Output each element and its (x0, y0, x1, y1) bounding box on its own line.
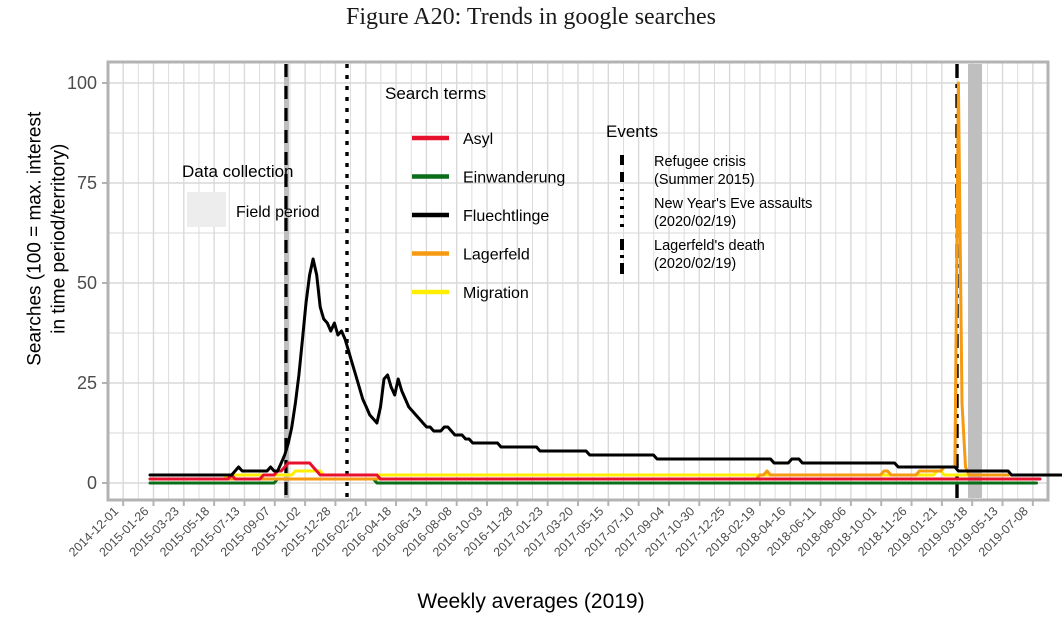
y-tick-label: 0 (87, 473, 97, 493)
y-tick-label: 75 (77, 173, 97, 193)
legend-event-date-0: (Summer 2015) (654, 172, 755, 188)
legend-event-date-2: (2020/02/19) (654, 256, 736, 272)
legend-title-events: Events (606, 122, 658, 141)
legend-title-data-collection: Data collection (182, 162, 294, 181)
legend-label-lagerfeld: Lagerfeld (463, 247, 530, 264)
y-tick-label: 100 (67, 73, 97, 93)
legend-event-name-1: New Year's Eve assaults (654, 196, 812, 212)
legend-label-einwanderung: Einwanderung (463, 170, 565, 187)
legend-label-migration: Migration (463, 285, 529, 302)
legend-label-asyl: Asyl (463, 131, 493, 148)
y-tick-label: 50 (77, 273, 97, 293)
legend-title-search-terms: Search terms (385, 84, 486, 103)
legend-label-fluechtlinge: Fluechtlinge (463, 208, 549, 225)
legend-event-date-1: (2020/02/19) (654, 214, 736, 230)
legend-label-field-period: Field period (236, 204, 320, 221)
legend-swatch-field-period (187, 192, 226, 227)
field-period-band (284, 64, 289, 498)
y-tick-label: 25 (77, 373, 97, 393)
chart-plot-area: 02550751002014-12-012015-01-262015-03-23… (0, 0, 1062, 623)
legend-event-name-0: Refugee crisis (654, 154, 746, 170)
field-period-band (968, 64, 982, 498)
legend-event-name-2: Lagerfeld's death (654, 238, 765, 254)
